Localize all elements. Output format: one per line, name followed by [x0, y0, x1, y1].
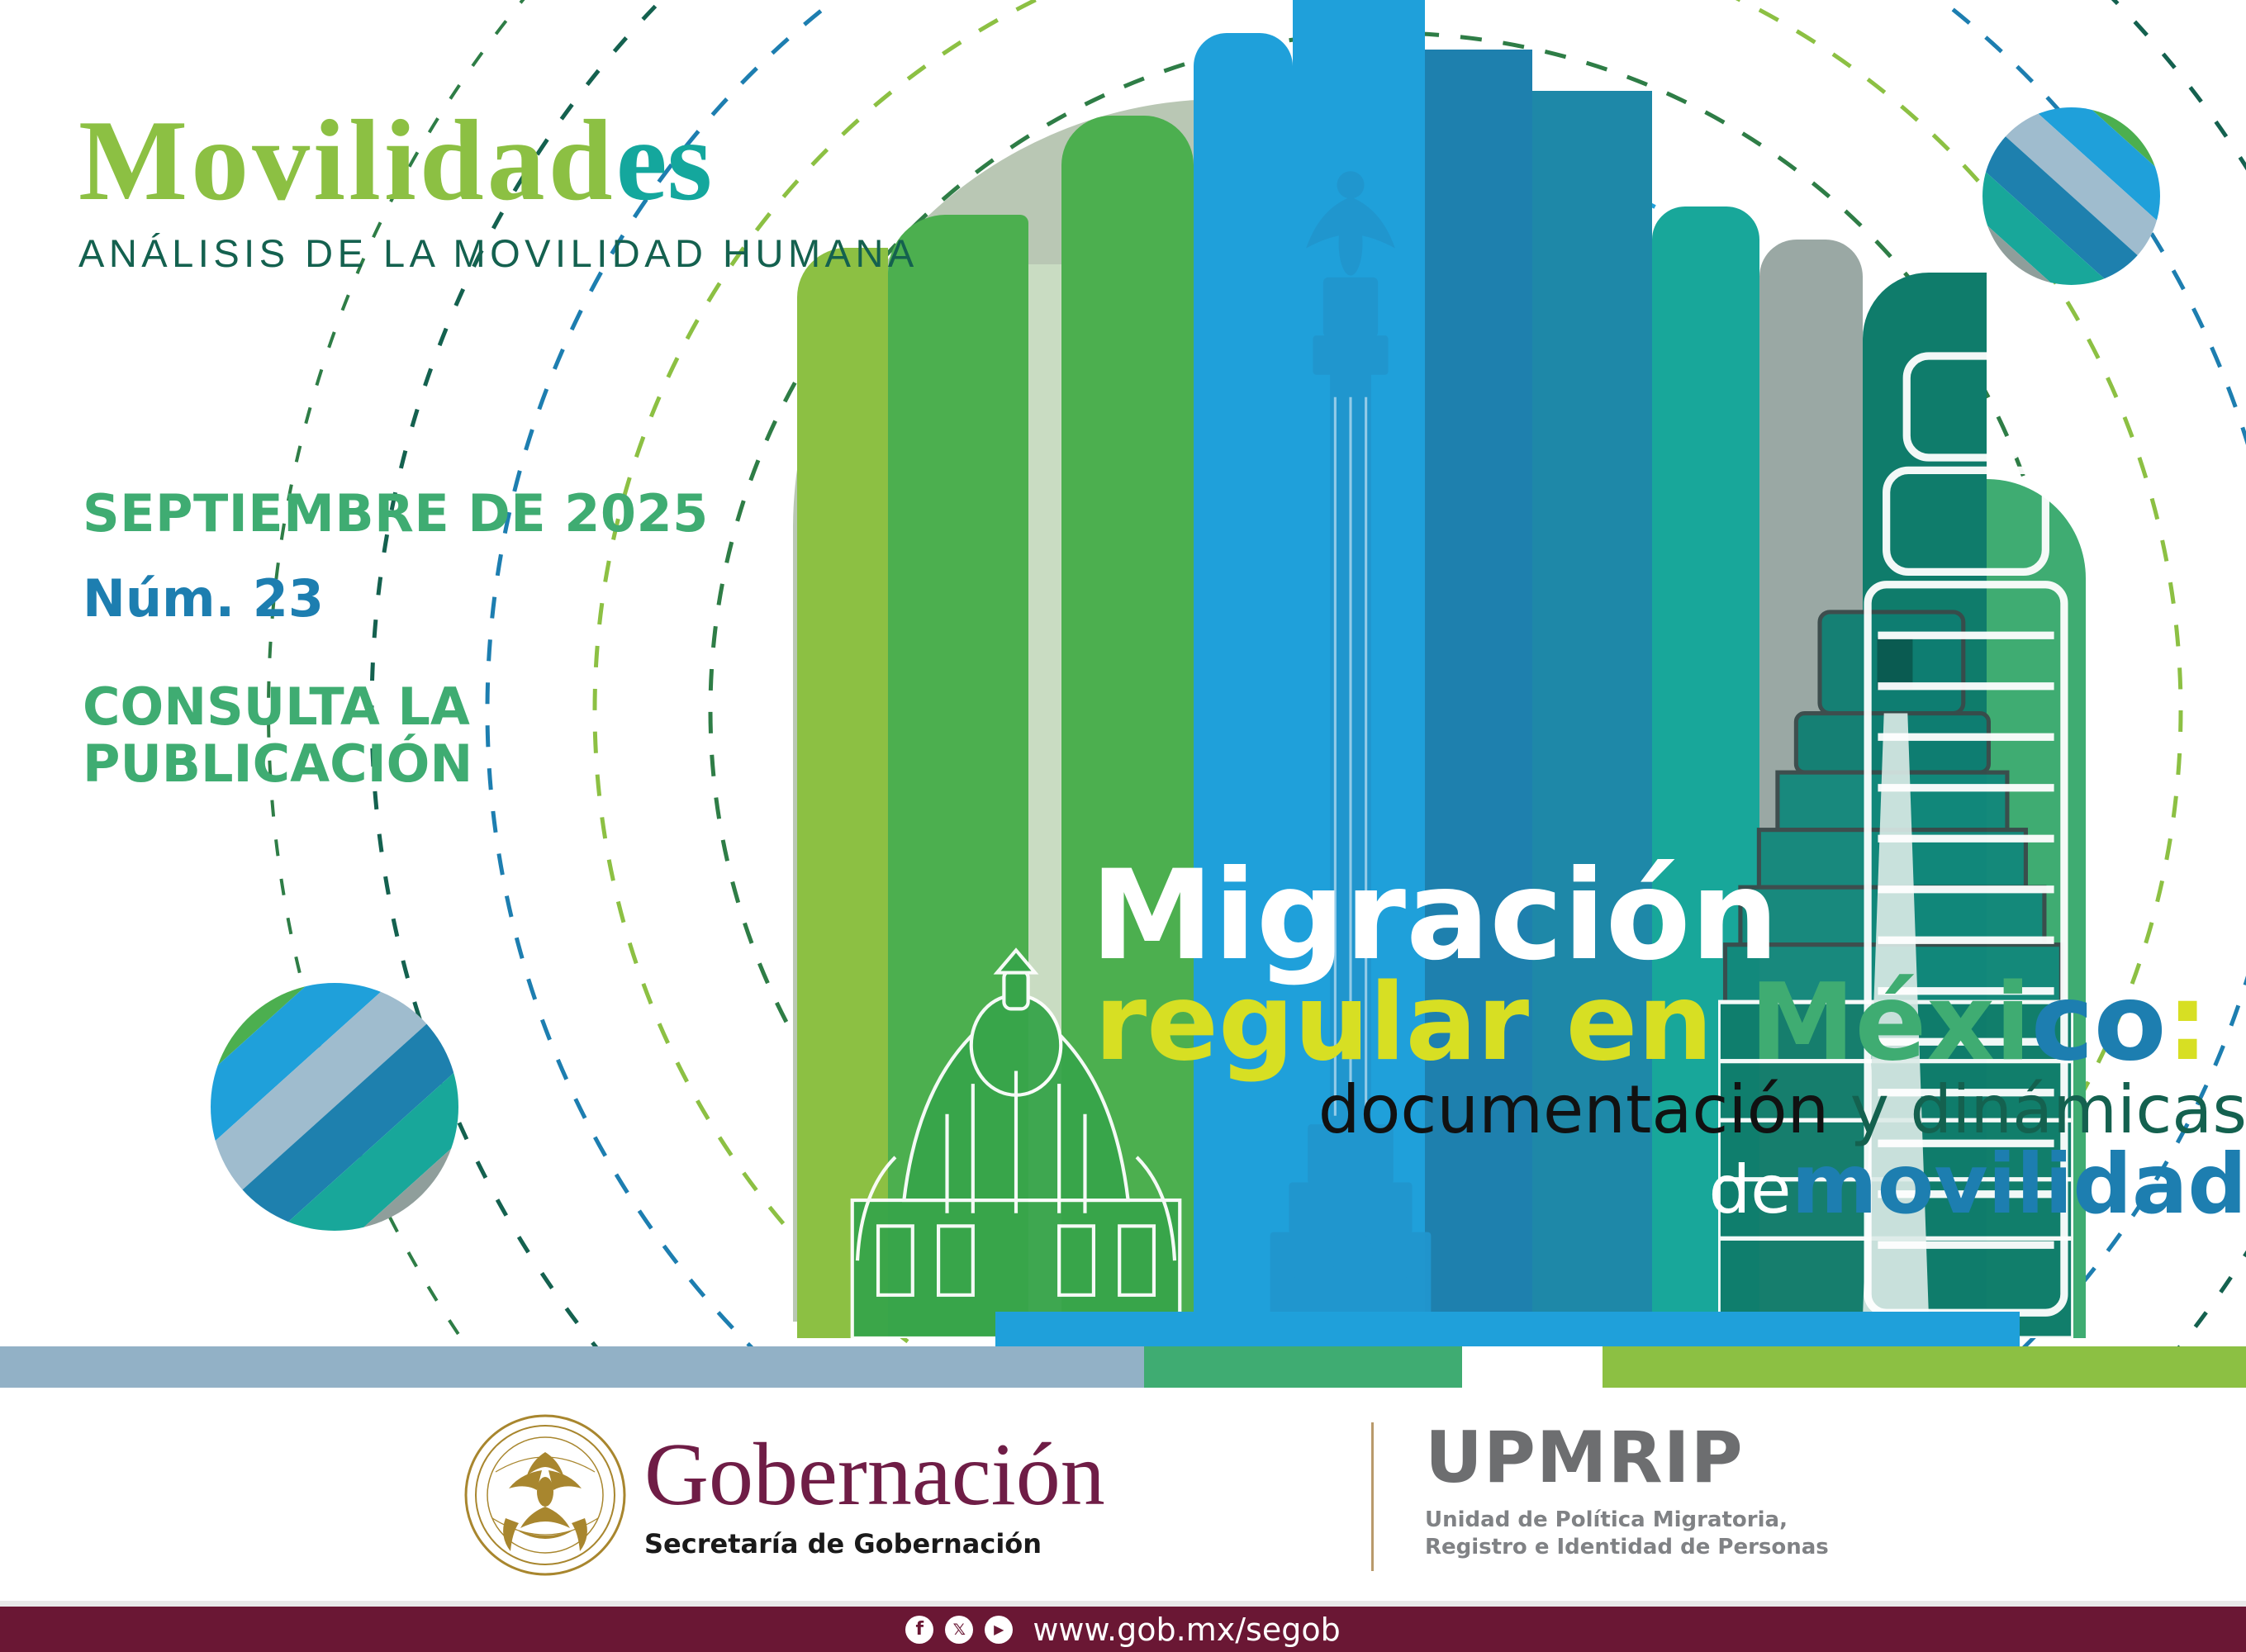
- gobernacion-text: Gobernación Secretaría de Gobernación: [644, 1431, 1105, 1559]
- website-url[interactable]: www.gob.mx/segob: [1033, 1612, 1340, 1648]
- facebook-icon[interactable]: f: [905, 1616, 933, 1644]
- upmrip-subtitle: Unidad de Política Migratoria, Registro …: [1425, 1507, 1829, 1562]
- movilidades-globe-logo-small: [1982, 107, 2160, 285]
- cta-line-2: PUBLICACIÓN: [83, 735, 867, 792]
- gobernacion-logo: Gobernación Secretaría de Gobernación: [463, 1412, 1105, 1578]
- masthead-subtitle: ANÁLISIS DE LA MOVILIDAD HUMANA: [78, 230, 1111, 276]
- footer-hairline: [0, 1601, 2246, 1607]
- issue-number: Núm. 23: [83, 568, 867, 629]
- x-twitter-icon[interactable]: 𝕏: [945, 1616, 973, 1644]
- issue-date: SEPTIEMBRE DE 2025: [83, 483, 867, 544]
- issue-block: SEPTIEMBRE DE 2025 Núm. 23 CONSULTA LA P…: [83, 483, 867, 793]
- headline-line-2: regular en México:: [1095, 973, 2246, 1074]
- consulta-publicacion-link[interactable]: CONSULTA LA PUBLICACIÓN: [83, 678, 867, 793]
- headline-movilidad: movilidad: [1791, 1136, 2246, 1232]
- footer-divider: [1371, 1422, 1374, 1571]
- poster-root: Migración regular en México: documentaci…: [0, 0, 2246, 1652]
- headline-documentacion: documentación: [1318, 1071, 1830, 1148]
- headline-line-1: Migración: [1090, 859, 2246, 973]
- gobernacion-subtitle: Secretaría de Gobernación: [644, 1528, 1105, 1559]
- headline-mexi: Méxi: [1750, 961, 2031, 1085]
- masthead-title: Movilidades: [78, 103, 1111, 219]
- footer: Gobernación Secretaría de Gobernación UP…: [0, 1388, 2246, 1594]
- headline-de: de: [1708, 1151, 1791, 1228]
- escudo-nacional-seal-icon: [463, 1412, 628, 1578]
- movilidades-globe-logo: [211, 983, 458, 1231]
- upmrip-logo: UPMRIP Unidad de Política Migratoria, Re…: [1425, 1422, 1829, 1562]
- upmrip-subtitle-line-2: Registro e Identidad de Personas: [1425, 1534, 1829, 1561]
- masthead: Movilidades ANÁLISIS DE LA MOVILIDAD HUM…: [78, 103, 1111, 276]
- upmrip-subtitle-line-1: Unidad de Política Migratoria,: [1425, 1507, 1829, 1534]
- cta-line-1: CONSULTA LA: [83, 678, 867, 735]
- headline-line-3: documentación y dinámicas: [1074, 1077, 2246, 1143]
- headline-colon: :: [2167, 961, 2209, 1085]
- masthead-title-main: Movilidad: [78, 97, 616, 225]
- gobernacion-title: Gobernación: [644, 1431, 1105, 1520]
- url-bar: f 𝕏 ▶ www.gob.mx/segob: [0, 1607, 2246, 1652]
- headline-regular-en: regular en: [1095, 961, 1750, 1085]
- upmrip-title: UPMRIP: [1425, 1422, 1829, 1493]
- masthead-title-tail: es: [616, 97, 713, 225]
- headline-block: Migración regular en México: documentaci…: [1074, 859, 2246, 1226]
- youtube-icon[interactable]: ▶: [985, 1616, 1013, 1644]
- headline-co: co: [2031, 961, 2167, 1085]
- headline-line-4: demovilidad: [1074, 1143, 2246, 1226]
